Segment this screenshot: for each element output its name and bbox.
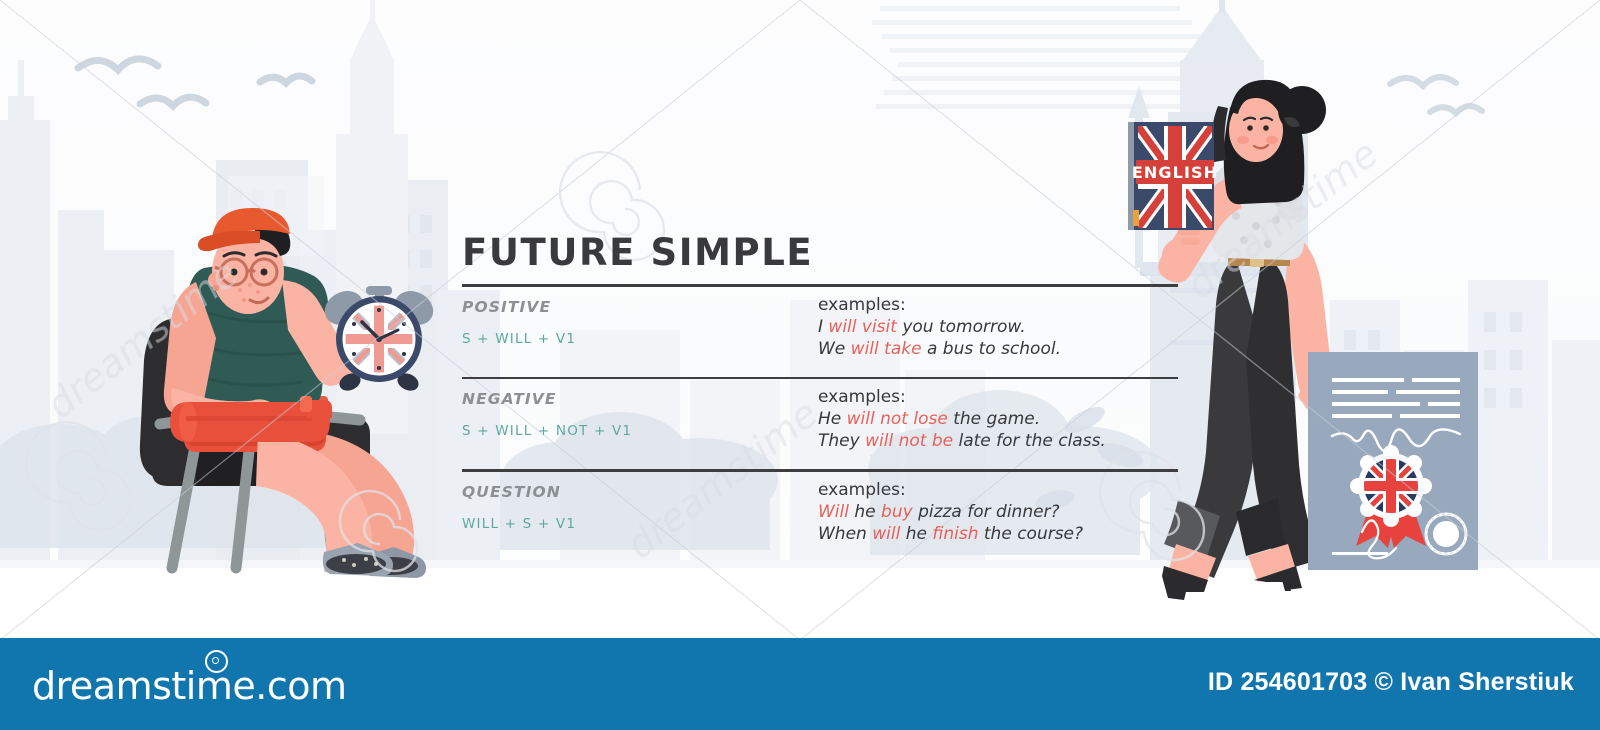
sentence-text: When [818,524,872,544]
highlighted-verb: will visit [828,317,897,337]
section-question-right: examples: Will he buy pizza for dinner? … [818,472,1178,544]
section-positive-right: examples: I will visit you tomorrow. We … [818,287,1178,359]
certificate-panel [1308,352,1478,570]
example-line: They will not be late for the class. [818,429,1178,451]
sentence-text: pizza for dinner? [913,502,1060,522]
section-negative: NEGATIVE S + WILL + NOT + V1 examples: H… [462,379,1178,469]
section-question-formula: WILL + S + V1 [462,501,792,532]
section-negative-right: examples: He will not lose the game. The… [818,379,1178,451]
section-positive-formula: S + WILL + V1 [462,316,792,347]
examples-label: examples: [818,287,1178,315]
examples-label: examples: [818,379,1178,407]
section-positive-label: POSITIVE [462,287,792,316]
illustration-canvas: ENGLISH [0,0,1600,730]
highlighted-verb: Will [818,502,849,522]
sentence-text: the game. [948,409,1040,429]
example-line: I will visit you tomorrow. [818,315,1178,337]
sentence-text: a bus to school. [922,339,1061,359]
page-title: FUTURE SIMPLE [462,234,1178,271]
sentence-text: the course? [978,524,1083,544]
image-credit: ID 254601703 © Ivan Sherstiuk [1208,668,1574,697]
grammar-table: FUTURE SIMPLE POSITIVE S + WILL + V1 exa… [462,234,1178,562]
section-positive: POSITIVE S + WILL + V1 examples: I will … [462,287,1178,377]
highlighted-verb: buy [881,502,913,522]
section-negative-left: NEGATIVE S + WILL + NOT + V1 [462,379,792,439]
sentence-text: he [849,502,881,522]
english-book: ENGLISH [1128,122,1218,230]
examples-label: examples: [818,472,1178,500]
example-line: When will he finish the course? [818,522,1178,544]
highlighted-verb: will not be [865,431,953,451]
watermark-footer-bar: dreamstime.com ID 254601703 © Ivan Shers… [0,638,1600,730]
sentence-text: They [818,431,865,451]
sentence-text: He [818,409,847,429]
dreamstime-spiral-icon [205,650,228,673]
highlighted-verb: will not lose [847,409,948,429]
dreamstime-logo[interactable]: dreamstime.com [32,664,346,708]
example-line: He will not lose the game. [818,407,1178,429]
section-negative-label: NEGATIVE [462,379,792,408]
section-question: QUESTION WILL + S + V1 examples: Will he… [462,472,1178,562]
section-negative-formula: S + WILL + NOT + V1 [462,408,792,439]
sentence-text: he [900,524,932,544]
section-question-label: QUESTION [462,472,792,501]
example-line: Will he buy pizza for dinner? [818,500,1178,522]
section-positive-left: POSITIVE S + WILL + V1 [462,287,792,347]
highlighted-verb: will take [851,339,922,359]
english-book-label: ENGLISH [1132,163,1218,182]
section-question-left: QUESTION WILL + S + V1 [462,472,792,532]
sentence-text: I [818,317,828,337]
example-line: We will take a bus to school. [818,337,1178,359]
highlighted-verb: finish [932,524,978,544]
sentence-text: late for the class. [953,431,1106,451]
highlighted-verb: will [872,524,900,544]
sentence-text: We [818,339,851,359]
sentence-text: you tomorrow. [897,317,1026,337]
